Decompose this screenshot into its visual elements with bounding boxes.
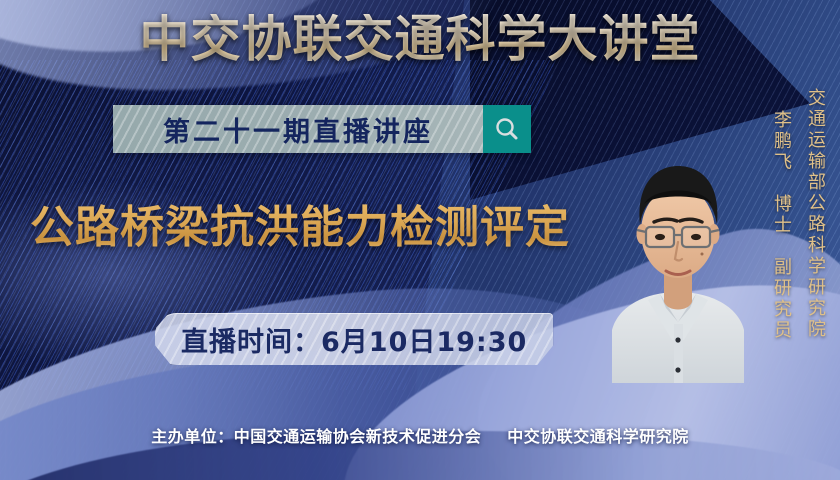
episode-bar-body: 第二十一期直播讲座	[113, 105, 483, 153]
footer-org-2: 中交协联交通科学研究院	[507, 427, 689, 446]
live-time-label: 直播时间：6月10日19:30	[181, 320, 527, 359]
footer-prefix: 主办单位：	[151, 427, 234, 446]
footer-org-1: 中国交通运输协会新技术促进分会	[234, 427, 482, 446]
speaker-organization: 交通运输部公路科学研究院	[804, 88, 827, 340]
episode-bar: 第二十一期直播讲座	[113, 105, 531, 153]
search-button[interactable]	[483, 105, 531, 153]
live-time-badge: 直播时间：6月10日19:30	[155, 313, 553, 365]
live-lecture-poster: 中交协联交通科学大讲堂 第二十一期直播讲座 公路桥梁抗洪能力检测评定 直播时间：…	[0, 0, 840, 480]
lecture-title: 公路桥梁抗洪能力检测评定	[30, 204, 570, 252]
episode-label: 第二十一期直播讲座	[163, 110, 433, 149]
footer-organizers: 主办单位：中国交通运输协会新技术促进分会中交协联交通科学研究院	[0, 423, 840, 447]
search-icon	[493, 115, 521, 143]
page-title: 中交协联交通科学大讲堂	[0, 14, 840, 64]
speaker-photo	[604, 108, 752, 383]
speaker-name: 李鹏飞 博士 副研究员	[770, 110, 793, 341]
